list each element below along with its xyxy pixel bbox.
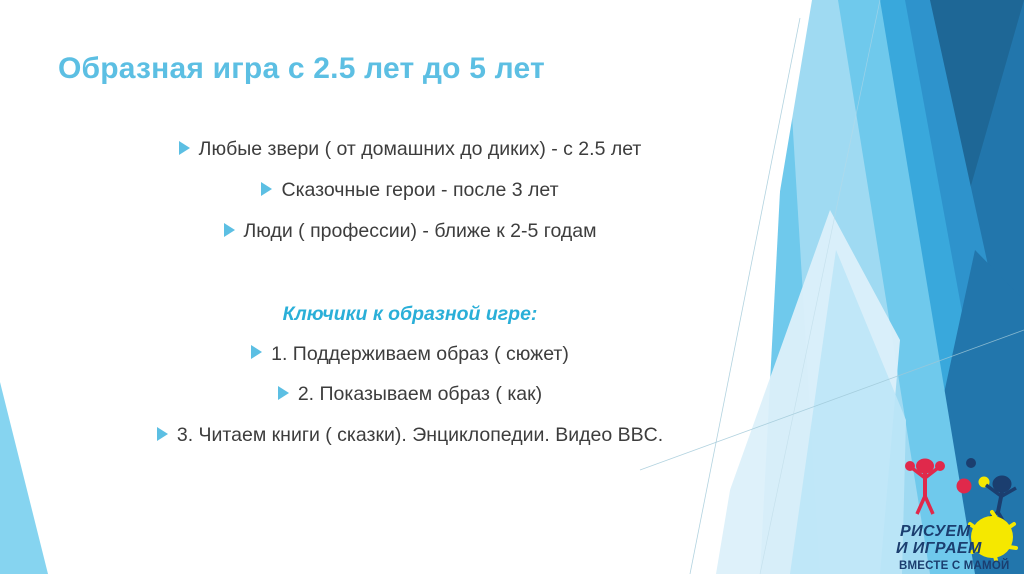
list-item: Сказочные герои - после 3 лет — [40, 169, 780, 210]
body-text-block: Любые звери ( от домашних до диких) - с … — [40, 128, 780, 455]
list-item-label: Любые звери ( от домашних до диких) - с … — [199, 138, 642, 160]
triangle-bullet-icon — [278, 386, 289, 400]
brand-logo: РИСУЕМ И ИГРАЕМ ВМЕСТЕ С МАМОЙ — [892, 452, 1024, 574]
slide-content: Образная игра с 2.5 лет до 5 лет Любые з… — [0, 0, 1024, 574]
list-item: 2. Показываем образ ( как) — [40, 373, 780, 414]
vertical-spacer — [40, 251, 780, 295]
list-item-label: 3. Читаем книги ( сказки). Энциклопедии.… — [177, 424, 663, 446]
logo-ball-navy-small — [966, 458, 976, 468]
list-item-label: Люди ( профессии) - ближе к 2-5 годам — [244, 220, 597, 242]
list-item: 3. Читаем книги ( сказки). Энциклопедии.… — [40, 414, 780, 455]
logo-ball-red — [957, 479, 972, 494]
logo-line-2: И ИГРАЕМ — [896, 540, 982, 557]
triangle-bullet-icon — [157, 427, 168, 441]
list-item: Любые звери ( от домашних до диких) - с … — [40, 128, 780, 169]
list-item: Люди ( профессии) - ближе к 2-5 годам — [40, 210, 780, 251]
triangle-bullet-icon — [251, 345, 262, 359]
list-item-label: 2. Показываем образ ( как) — [298, 383, 542, 405]
logo-figure-red — [906, 459, 945, 514]
key-heading: Ключики к образной игре: — [40, 295, 780, 333]
list-item-label: 1. Поддерживаем образ ( сюжет) — [271, 342, 569, 364]
list-item-label: Сказочные герои - после 3 лет — [281, 179, 558, 201]
logo-line-3: ВМЕСТЕ С МАМОЙ — [899, 559, 1009, 572]
page-title: Образная игра с 2.5 лет до 5 лет — [58, 52, 758, 86]
triangle-bullet-icon — [261, 182, 272, 196]
triangle-bullet-icon — [224, 223, 235, 237]
list-item: 1. Поддерживаем образ ( сюжет) — [40, 333, 780, 374]
logo-line-1: РИСУЕМ — [900, 523, 971, 540]
triangle-bullet-icon — [179, 141, 190, 155]
slide-canvas: Образная игра с 2.5 лет до 5 лет Любые з… — [0, 0, 1024, 574]
